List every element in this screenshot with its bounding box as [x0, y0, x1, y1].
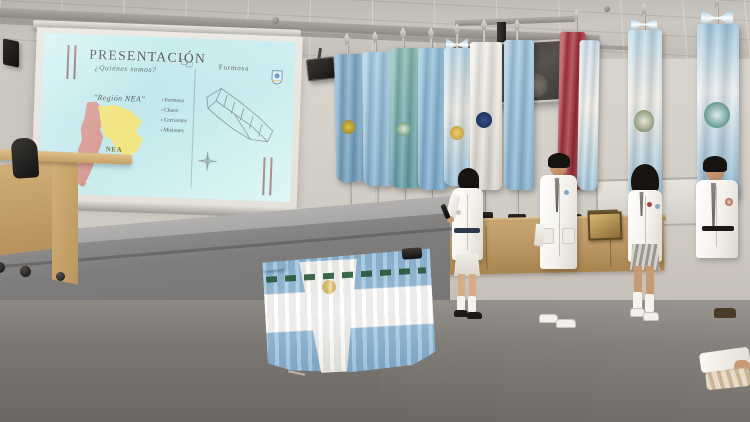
coat-badge — [456, 210, 461, 215]
belt — [454, 228, 480, 233]
shoe — [556, 319, 576, 328]
office-chair-base — [0, 240, 40, 276]
flag-emblem — [397, 122, 411, 136]
student-fourth — [692, 158, 748, 368]
award-plaque — [588, 211, 623, 240]
hair — [548, 153, 570, 168]
slide-vertical-divider — [190, 69, 195, 189]
trousers — [717, 230, 736, 316]
slide-subtitle: ¿Quiénes somos? — [95, 63, 157, 74]
trousers — [558, 266, 572, 322]
desk-leg-panel — [52, 157, 78, 285]
formosa-crest-icon — [270, 69, 284, 84]
fire-sprinkler-icon — [272, 17, 279, 24]
lab-coat-seam — [467, 194, 468, 250]
sandal — [705, 368, 750, 391]
slide-accent-bars-bottom-right — [262, 157, 277, 195]
student-third — [622, 166, 672, 362]
shoe — [454, 310, 468, 317]
office-chair-backrest[interactable] — [11, 137, 40, 179]
trousers — [544, 266, 557, 320]
nea-map-label: NEA — [106, 145, 123, 154]
coat-pocket — [562, 228, 575, 244]
coat-badge — [647, 202, 652, 207]
student-second — [534, 154, 586, 354]
slide-accent-bars-top-left — [66, 45, 81, 79]
flag-clamp[interactable] — [402, 247, 423, 259]
coat-badge — [655, 204, 660, 209]
school-logo-icon — [179, 56, 194, 71]
flag-cloth — [504, 40, 534, 190]
sock — [645, 294, 654, 312]
leg — [646, 266, 654, 296]
lab-coat-seam — [559, 183, 560, 256]
fire-sprinkler-icon — [604, 6, 610, 12]
skirt — [454, 254, 480, 276]
shoe — [467, 312, 482, 319]
student-speaker-with-microphone — [446, 170, 492, 342]
formosa-map-graphic — [202, 77, 283, 158]
shoe — [643, 312, 659, 321]
desk-caster — [56, 272, 65, 281]
flag-emblem — [450, 126, 464, 140]
wall-speaker-left-icon — [3, 38, 19, 67]
school-crest-badge — [725, 198, 733, 206]
compass-rose-icon — [197, 151, 218, 172]
seated-person-foreground — [700, 350, 750, 422]
hair — [703, 156, 727, 172]
flag-emblem — [634, 110, 654, 132]
flag-entre-rios — [500, 30, 534, 220]
bullet-misiones: Misiones — [160, 125, 186, 136]
chair-caster — [20, 266, 31, 277]
flag-clamp[interactable] — [261, 257, 284, 271]
coat-badge — [564, 190, 569, 195]
classroom-presentation-scene: PRESENTACIÓN ¿Quiénes somos? "Región NEA… — [0, 0, 750, 422]
province-panel-title: Formosa — [219, 63, 249, 72]
shoe — [714, 308, 736, 318]
sock — [468, 296, 476, 312]
flag-emblem — [476, 112, 492, 128]
lab-coat-seam — [645, 196, 646, 252]
province-bullet-list: Formosa Chaco Corrientes Misiones — [160, 95, 187, 136]
flag-emblem — [704, 102, 730, 128]
chair-caster — [0, 262, 5, 273]
trousers — [700, 230, 718, 314]
